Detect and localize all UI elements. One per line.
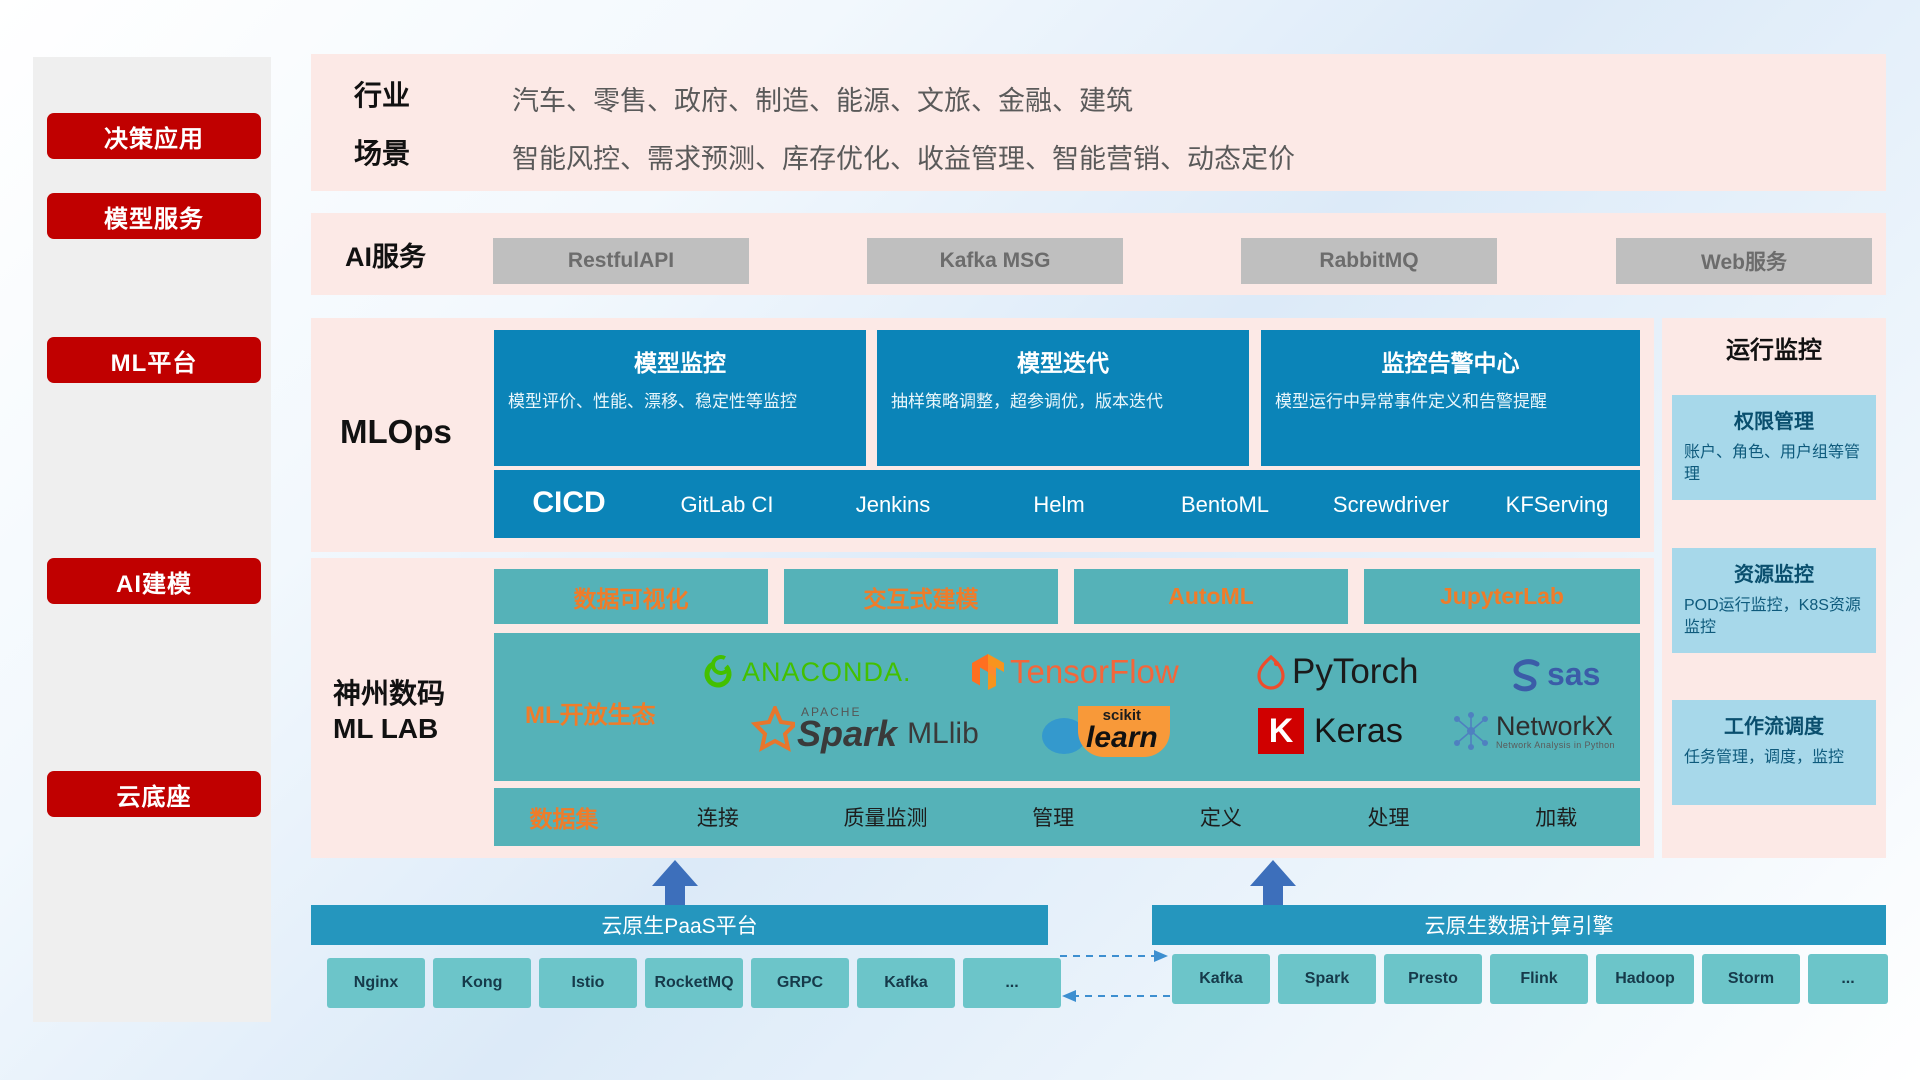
ai-service-label: AI服务 bbox=[345, 241, 426, 275]
chip-label: ... bbox=[1841, 970, 1854, 988]
cloud-chip-hadoop[interactable]: Hadoop bbox=[1596, 954, 1694, 1004]
pytorch-wordmark: PyTorch bbox=[1292, 652, 1418, 692]
tool-label: JupyterLab bbox=[1364, 569, 1640, 624]
rail-item-decision-application[interactable]: 决策应用 bbox=[47, 113, 261, 159]
dataset-row: 数据集 连接 质量监测 管理 定义 处理 加载 bbox=[494, 788, 1640, 846]
card-title: 监控告警中心 bbox=[1261, 344, 1640, 378]
cicd-item-kfserving[interactable]: KFServing bbox=[1474, 470, 1640, 518]
spark-mark bbox=[735, 706, 795, 762]
mlops-card-model-iteration[interactable]: 模型迭代 抽样策略调整，超参调优，版本迭代 bbox=[877, 330, 1249, 466]
sas-logo: sas bbox=[1510, 656, 1600, 693]
rail-item-ai-modeling[interactable]: AI建模 bbox=[47, 558, 261, 604]
tool-automl[interactable]: AutoML bbox=[1074, 569, 1348, 624]
chip-label: Spark bbox=[1305, 970, 1349, 988]
cloud-chip-kong[interactable]: Kong bbox=[433, 958, 531, 1008]
card-body: 任务管理，调度，监控 bbox=[1684, 747, 1864, 769]
card-body: 抽样策略调整，超参调优，版本迭代 bbox=[891, 390, 1235, 414]
cloud-chip-flink[interactable]: Flink bbox=[1490, 954, 1588, 1004]
anaconda-mark bbox=[700, 654, 736, 690]
ml-lab-label-line2: ML LAB bbox=[333, 711, 445, 746]
chip-label: Storm bbox=[1728, 970, 1774, 988]
rail-item-model-service[interactable]: 模型服务 bbox=[47, 193, 261, 239]
sas-wordmark: sas bbox=[1547, 656, 1600, 693]
dataset-item-load[interactable]: 加载 bbox=[1472, 802, 1640, 832]
card-body: POD运行监控，K8S资源监控 bbox=[1684, 595, 1864, 640]
cloud-chip-presto[interactable]: Presto bbox=[1384, 954, 1482, 1004]
cloud-chip-istio[interactable]: Istio bbox=[539, 958, 637, 1008]
cloud-chip-spark[interactable]: Spark bbox=[1278, 954, 1376, 1004]
anaconda-logo: ANACONDA. bbox=[700, 654, 912, 690]
tool-data-visualization[interactable]: 数据可视化 bbox=[494, 569, 768, 624]
cloud-chip-nginx[interactable]: Nginx bbox=[327, 958, 425, 1008]
ai-service-kafka-msg[interactable]: Kafka MSG bbox=[867, 238, 1123, 284]
rail-item-label: 云底座 bbox=[117, 777, 192, 812]
pill-label: Kafka MSG bbox=[940, 249, 1051, 273]
card-body: 账户、角色、用户组等管理 bbox=[1684, 442, 1864, 487]
cicd-item-gitlab-ci[interactable]: GitLab CI bbox=[644, 470, 810, 518]
card-title: 模型迭代 bbox=[877, 344, 1249, 378]
rail-item-cloud-base[interactable]: 云底座 bbox=[47, 771, 261, 817]
cicd-item-helm[interactable]: Helm bbox=[976, 470, 1142, 518]
networkx-logo: NetworkX Network Analysis in Python bbox=[1450, 710, 1615, 752]
anaconda-wordmark: ANACONDA. bbox=[742, 657, 912, 688]
tensorflow-logo: TensorFlow bbox=[970, 652, 1179, 692]
chip-label: Kafka bbox=[1199, 970, 1243, 988]
tool-jupyterlab[interactable]: JupyterLab bbox=[1364, 569, 1640, 624]
card-title: 工作流调度 bbox=[1672, 710, 1876, 739]
chip-label: Kong bbox=[462, 974, 503, 992]
learn-label: learn bbox=[1086, 723, 1158, 753]
monitoring-card-resource[interactable]: 资源监控 POD运行监控，K8S资源监控 bbox=[1672, 548, 1876, 653]
dataset-item-define[interactable]: 定义 bbox=[1137, 802, 1305, 832]
tensorflow-mark bbox=[970, 652, 1006, 692]
mlops-label: MLOps bbox=[340, 411, 452, 452]
cicd-title: CICD bbox=[494, 470, 644, 520]
scikit-learn-logo: scikit learn bbox=[1038, 706, 1170, 757]
keras-logo: K Keras bbox=[1258, 708, 1403, 754]
card-title: 模型监控 bbox=[494, 344, 866, 378]
dataset-item-connect[interactable]: 连接 bbox=[634, 802, 802, 832]
industry-label: 行业 bbox=[354, 78, 410, 113]
tool-label: 交互式建模 bbox=[784, 569, 1058, 624]
cicd-item-jenkins[interactable]: Jenkins bbox=[810, 470, 976, 518]
scenario-label: 场景 bbox=[354, 136, 410, 171]
keras-wordmark: Keras bbox=[1314, 712, 1403, 751]
networkx-wordmark: NetworkX bbox=[1496, 713, 1615, 740]
architecture-diagram: 决策应用 模型服务 ML平台 AI建模 云底座 行业 汽车、零售、政府、制造、能… bbox=[0, 0, 1920, 1080]
dataset-item-quality[interactable]: 质量监测 bbox=[802, 802, 970, 832]
cloud-chip-kafka-right[interactable]: Kafka bbox=[1172, 954, 1270, 1004]
cicd-item-bentoml[interactable]: BentoML bbox=[1142, 470, 1308, 518]
scenario-value: 智能风控、需求预测、库存优化、收益管理、智能营销、动态定价 bbox=[512, 137, 1295, 176]
monitoring-title: 运行监控 bbox=[1662, 330, 1886, 365]
chip-label: ... bbox=[1005, 974, 1018, 992]
rail-item-label: ML平台 bbox=[111, 343, 198, 378]
mlops-card-alert-center[interactable]: 监控告警中心 模型运行中异常事件定义和告警提醒 bbox=[1261, 330, 1640, 466]
networkx-tagline: Network Analysis in Python bbox=[1496, 740, 1615, 750]
industry-value: 汽车、零售、政府、制造、能源、文旅、金融、建筑 bbox=[512, 79, 1133, 118]
pill-label: RabbitMQ bbox=[1319, 249, 1418, 273]
chip-label: GRPC bbox=[777, 974, 823, 992]
cloud-paas-bar[interactable]: 云原生PaaS平台 bbox=[311, 905, 1048, 945]
tool-label: AutoML bbox=[1074, 569, 1348, 624]
dataset-item-manage[interactable]: 管理 bbox=[969, 802, 1137, 832]
cloud-chip-grpc[interactable]: GRPC bbox=[751, 958, 849, 1008]
cloud-chip-kafka-left[interactable]: Kafka bbox=[857, 958, 955, 1008]
dataset-head: 数据集 bbox=[494, 800, 634, 834]
chip-label: Istio bbox=[572, 974, 605, 992]
ai-service-restfulapi[interactable]: RestfulAPI bbox=[493, 238, 749, 284]
chip-label: Nginx bbox=[354, 974, 398, 992]
card-title: 资源监控 bbox=[1672, 558, 1876, 587]
ml-lab-label-line1: 神州数码 bbox=[333, 676, 445, 711]
chip-label: Flink bbox=[1520, 970, 1557, 988]
tool-label: 数据可视化 bbox=[494, 569, 768, 624]
ai-service-rabbitmq[interactable]: RabbitMQ bbox=[1241, 238, 1497, 284]
pill-label: RestfulAPI bbox=[568, 249, 674, 273]
mlops-card-model-monitoring[interactable]: 模型监控 模型评价、性能、漂移、稳定性等监控 bbox=[494, 330, 866, 466]
pill-label: Web服务 bbox=[1701, 246, 1787, 276]
spark-wordmark: Spark bbox=[797, 713, 897, 754]
chip-label: Presto bbox=[1408, 970, 1458, 988]
cloud-data-engine-bar[interactable]: 云原生数据计算引擎 bbox=[1152, 905, 1886, 945]
spark-mllib-logo: APACHE Spark MLlib bbox=[735, 706, 979, 762]
ml-ecosystem-title: ML开放生态 bbox=[525, 695, 656, 730]
rail-item-ml-platform[interactable]: ML平台 bbox=[47, 337, 261, 383]
chip-label: RocketMQ bbox=[654, 974, 733, 992]
card-body: 模型评价、性能、漂移、稳定性等监控 bbox=[508, 390, 852, 414]
rail-item-label: 模型服务 bbox=[104, 199, 204, 234]
dashed-exchange-arrows-icon bbox=[1060, 948, 1170, 1008]
cloud-paas-label: 云原生PaaS平台 bbox=[601, 910, 757, 940]
pytorch-logo: PyTorch bbox=[1255, 652, 1418, 692]
keras-mark: K bbox=[1258, 708, 1304, 754]
card-body: 模型运行中异常事件定义和告警提醒 bbox=[1275, 390, 1626, 414]
cloud-chip-storm[interactable]: Storm bbox=[1702, 954, 1800, 1004]
chip-label: Hadoop bbox=[1615, 970, 1675, 988]
cicd-bar: CICD GitLab CI Jenkins Helm BentoML Scre… bbox=[494, 470, 1640, 538]
cloud-data-engine-label: 云原生数据计算引擎 bbox=[1425, 910, 1614, 940]
networkx-mark bbox=[1450, 710, 1492, 752]
monitoring-card-permission[interactable]: 权限管理 账户、角色、用户组等管理 bbox=[1672, 395, 1876, 500]
card-title: 权限管理 bbox=[1672, 405, 1876, 434]
tool-interactive-modeling[interactable]: 交互式建模 bbox=[784, 569, 1058, 624]
cicd-item-screwdriver[interactable]: Screwdriver bbox=[1308, 470, 1474, 518]
mllib-wordmark: MLlib bbox=[907, 717, 979, 751]
cloud-chip-more-right[interactable]: ... bbox=[1808, 954, 1888, 1004]
cloud-chip-more-left[interactable]: ... bbox=[963, 958, 1061, 1008]
tensorflow-wordmark: TensorFlow bbox=[1010, 653, 1179, 691]
arrow-up-data-engine-icon bbox=[1238, 860, 1308, 910]
dataset-item-process[interactable]: 处理 bbox=[1305, 802, 1473, 832]
rail-item-label: 决策应用 bbox=[104, 119, 204, 154]
ml-lab-label: 神州数码 ML LAB bbox=[333, 676, 445, 746]
ai-service-web-service[interactable]: Web服务 bbox=[1616, 238, 1872, 284]
sas-mark bbox=[1510, 658, 1546, 692]
monitoring-card-workflow[interactable]: 工作流调度 任务管理，调度，监控 bbox=[1672, 700, 1876, 805]
pytorch-mark bbox=[1255, 653, 1287, 691]
rail-item-label: AI建模 bbox=[116, 564, 192, 599]
spark-apache-label: APACHE bbox=[801, 705, 861, 719]
arrow-up-paas-icon bbox=[640, 860, 710, 910]
chip-label: Kafka bbox=[884, 974, 928, 992]
cloud-chip-rocketmq[interactable]: RocketMQ bbox=[645, 958, 743, 1008]
